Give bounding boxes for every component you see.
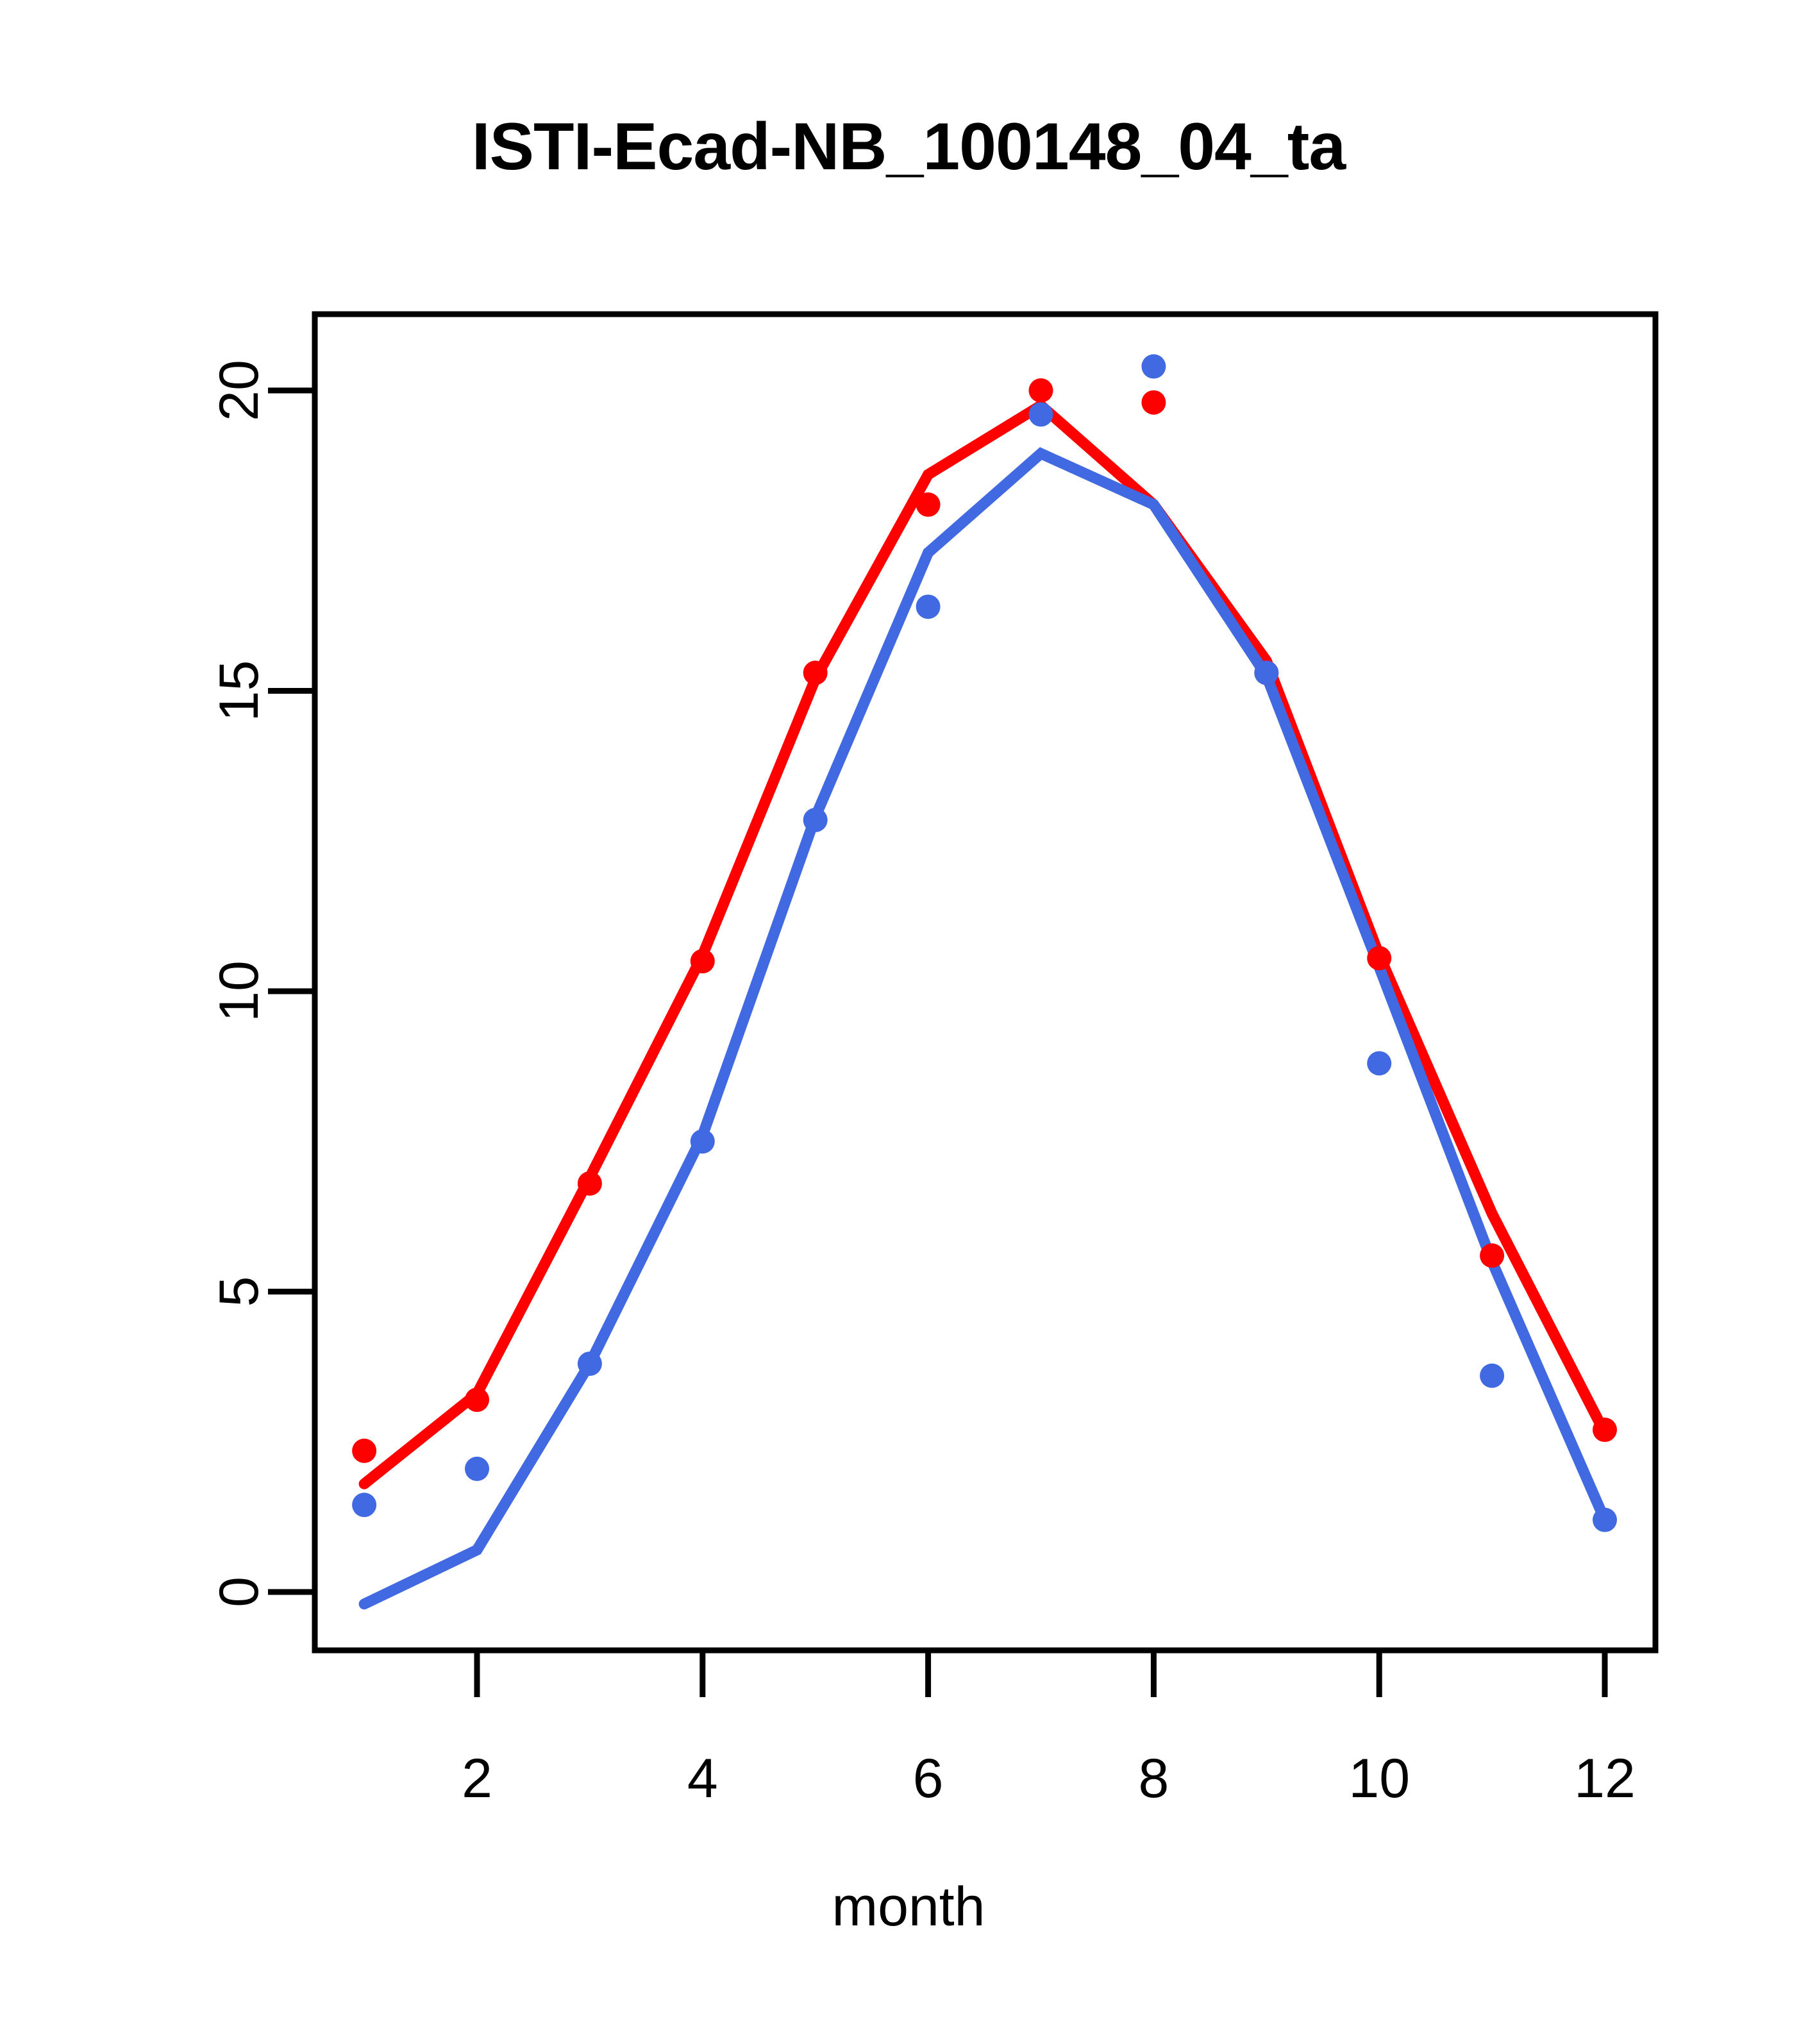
data-point-red-points [352,1439,376,1463]
x-axis-tick-label: 8 [1138,1748,1169,1809]
x-axis-tick-label: 10 [1348,1748,1410,1809]
plot-frame [315,314,1655,1650]
data-point-red-points [1029,378,1053,403]
data-point-blue-points [916,594,941,619]
series-line-blue-line [364,453,1605,1604]
data-point-blue-points [578,1352,602,1376]
y-axis-tick-label: 5 [208,1277,270,1307]
data-point-blue-points [1593,1508,1617,1532]
x-axis-tick-label: 2 [462,1748,492,1809]
data-point-blue-points [803,808,828,832]
x-axis-tick-label: 6 [913,1748,944,1809]
y-axis-tick-label: 20 [208,360,270,421]
series-line-red-line [364,405,1605,1484]
x-axis-tick-label: 12 [1574,1748,1636,1809]
data-point-blue-points [1029,402,1053,426]
x-axis-tick-label: 4 [687,1748,718,1809]
data-point-blue-points [691,1129,715,1153]
y-axis-tick-label: 0 [208,1577,270,1607]
data-point-red-points [691,949,715,973]
x-axis-title: month [0,1875,1817,1939]
data-point-red-points [465,1387,489,1412]
chart-page: ISTI-Ecad-NB_100148_04_ta 05101520246810… [0,0,1817,2044]
data-point-red-points [916,492,941,517]
data-point-red-points [578,1171,602,1196]
data-point-red-points [1593,1418,1617,1442]
data-point-blue-points [352,1493,376,1517]
y-axis-tick-label: 15 [208,660,270,722]
data-point-red-points [1141,390,1166,415]
line-chart: 0510152024681012 [0,0,1817,2044]
data-point-red-points [803,660,828,685]
data-point-red-points [1367,946,1391,970]
data-point-blue-points [1480,1364,1504,1388]
data-point-blue-points [1254,660,1278,685]
data-point-blue-points [1367,1051,1391,1075]
data-point-blue-points [465,1457,489,1481]
y-axis-tick-label: 10 [208,960,270,1022]
data-point-blue-points [1141,355,1166,379]
data-point-red-points [1480,1243,1504,1268]
